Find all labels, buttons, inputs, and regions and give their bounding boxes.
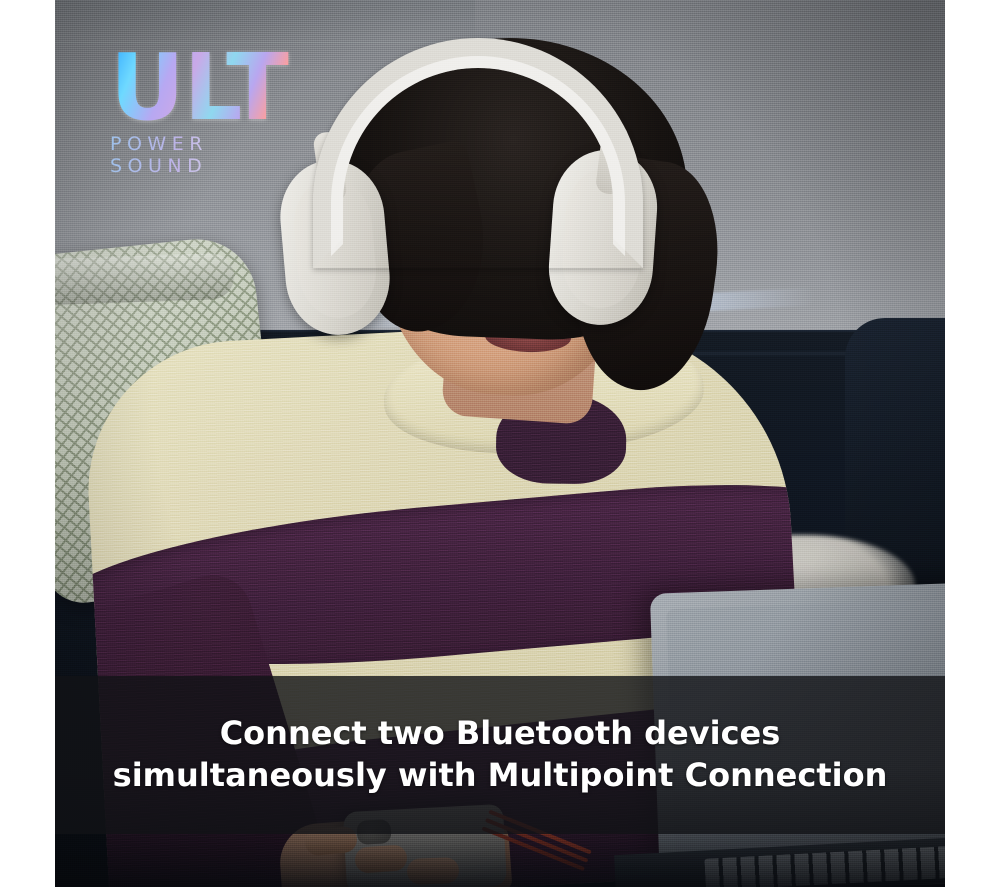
caption-line-1: Connect two Bluetooth devices [220,713,781,755]
ult-tagline: POWER SOUND [110,133,310,177]
caption-banner: Connect two Bluetooth devices simultaneo… [55,676,945,834]
cushion-fold [55,253,235,306]
caption-line-2: simultaneously with Multipoint Connectio… [113,755,888,797]
product-image-page: ULT POWER SOUND Connect two Bluetooth de… [0,0,1000,887]
ult-wordmark: ULT [110,44,310,131]
ult-logo: ULT POWER SOUND [110,44,310,177]
